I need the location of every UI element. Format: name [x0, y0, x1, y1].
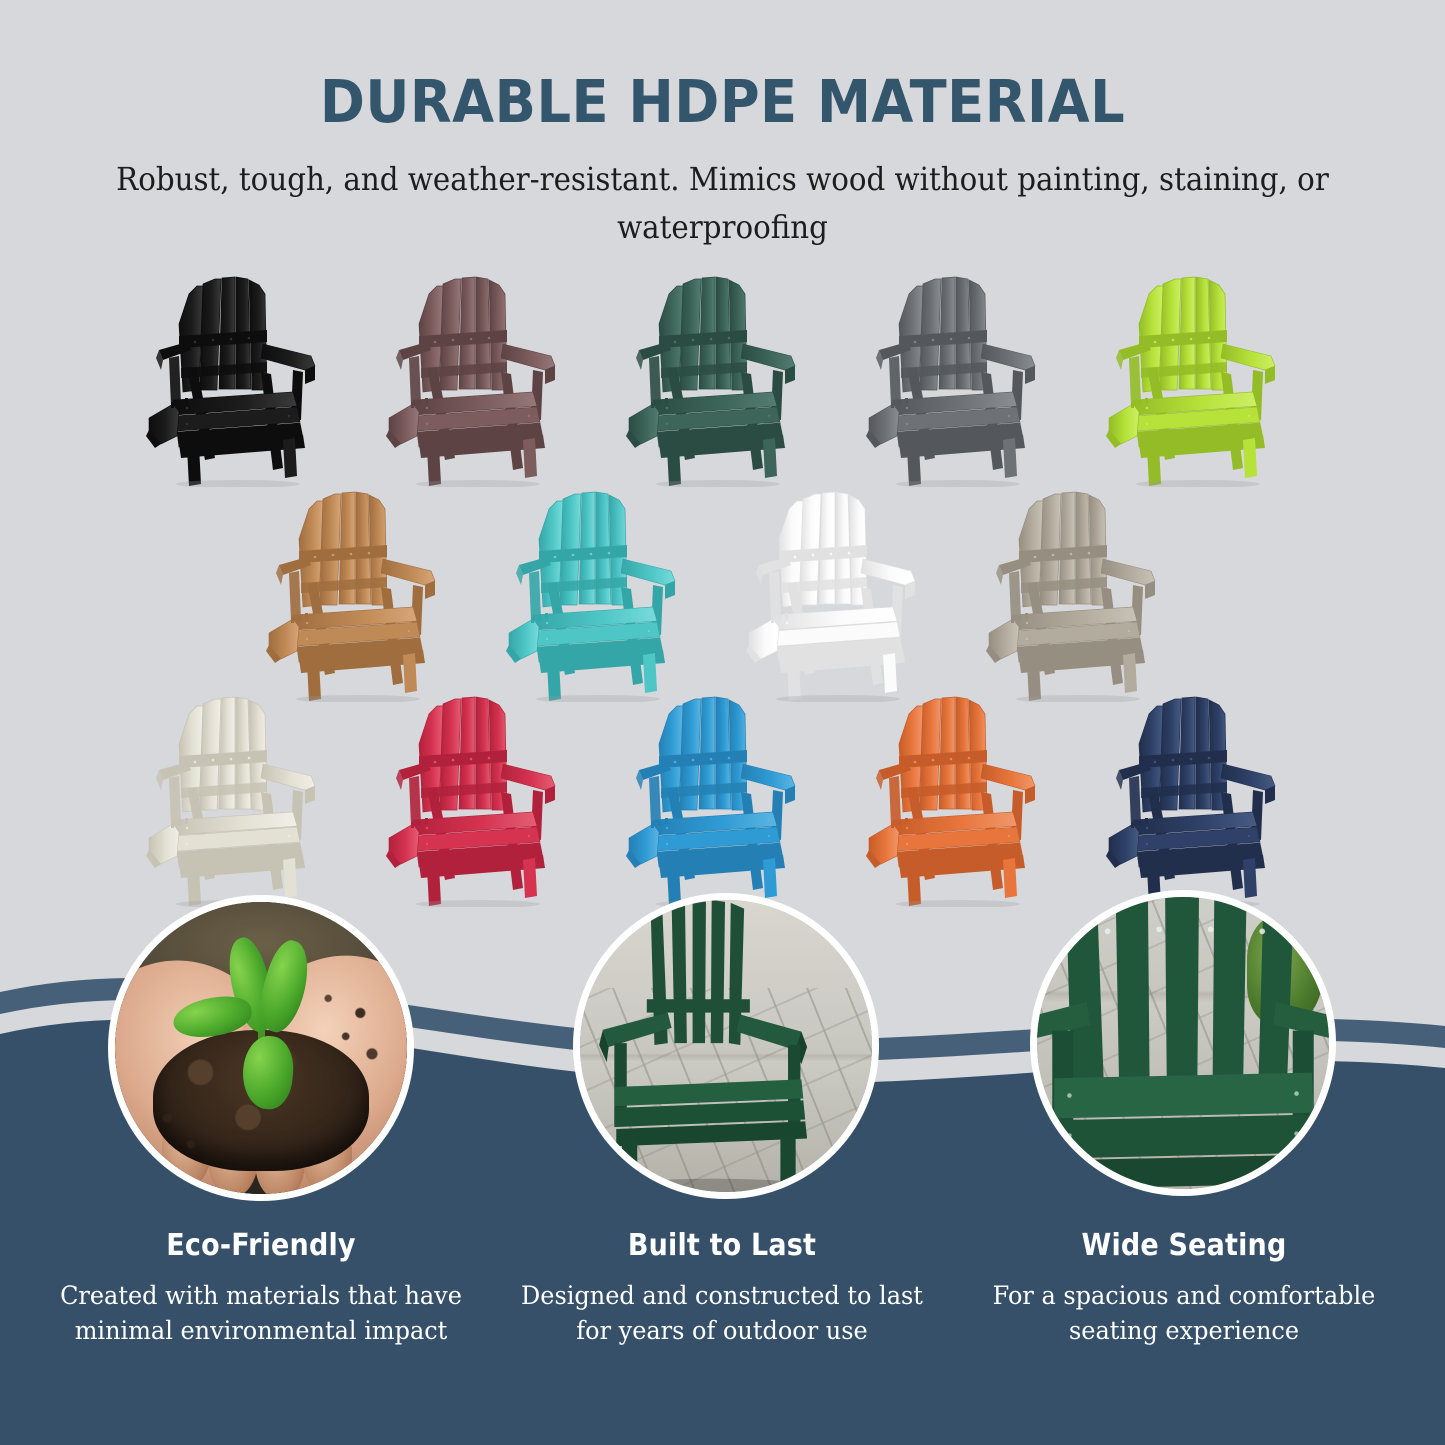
feature-title: Eco-Friendly: [51, 1228, 470, 1263]
chair-teak[interactable]: [243, 487, 483, 702]
chair-red-graphic: [383, 692, 583, 907]
feature-title: Built to Last: [512, 1228, 931, 1263]
photo-built-to-last: [573, 893, 879, 1199]
chair-white[interactable]: [723, 487, 963, 702]
chair-gray[interactable]: [843, 272, 1083, 487]
feature-description: Designed and constructed to last for yea…: [503, 1279, 941, 1349]
feature-eco-friendly: Eco-Friendly Created with materials that…: [28, 1228, 494, 1349]
chair-brown[interactable]: [363, 272, 603, 487]
chair-red[interactable]: [363, 692, 603, 907]
chair-lime-graphic: [1103, 272, 1303, 487]
chair-light-blue[interactable]: [603, 692, 843, 907]
page-subtitle: Robust, tough, and weather-resistant. Mi…: [51, 157, 1395, 253]
chair-white-graphic: [743, 487, 943, 702]
chair-turquoise[interactable]: [483, 487, 723, 702]
infographic-canvas: DURABLE HDPE MATERIAL Robust, tough, and…: [0, 0, 1445, 1445]
chair-ivory-graphic: [143, 692, 343, 907]
chair-black-graphic: [143, 272, 343, 487]
chair-lime[interactable]: [1083, 272, 1323, 487]
chair-row-1: [0, 272, 1445, 487]
chair-dark-green[interactable]: [603, 272, 843, 487]
chair-row-2: [0, 487, 1445, 702]
chair-orange[interactable]: [843, 692, 1083, 907]
feature-description: Created with materials that have minimal…: [42, 1279, 480, 1349]
chair-gray-beige-graphic: [983, 487, 1183, 702]
feature-built-to-last: Built to Last Designed and constructed t…: [489, 1228, 955, 1349]
chair-row-3: [0, 692, 1445, 907]
soil-specks: [115, 902, 407, 1194]
chair-orange-graphic: [863, 692, 1063, 907]
chair-light-blue-graphic: [623, 692, 823, 907]
feature-wide-seating: Wide Seating For a spacious and comforta…: [951, 1228, 1417, 1349]
chair-turquoise-graphic: [503, 487, 703, 702]
chair-gray-beige[interactable]: [963, 487, 1203, 702]
chair-gray-graphic: [863, 272, 1063, 487]
photo-wide-seating: [1030, 890, 1336, 1196]
chair-dark-green-graphic: [623, 272, 823, 487]
header-block: DURABLE HDPE MATERIAL Robust, tough, and…: [0, 72, 1445, 253]
feature-description: For a spacious and comfortable seating e…: [965, 1279, 1403, 1349]
chair-black[interactable]: [123, 272, 363, 487]
chair-brown-graphic: [383, 272, 583, 487]
page-title: DURABLE HDPE MATERIAL: [58, 72, 1387, 131]
chair-navy[interactable]: [1083, 692, 1323, 907]
chair-teak-graphic: [263, 487, 463, 702]
chair-ivory[interactable]: [123, 692, 363, 907]
feature-title: Wide Seating: [974, 1228, 1393, 1263]
photo-eco-friendly: [108, 895, 414, 1201]
chair-navy-graphic: [1103, 692, 1303, 907]
